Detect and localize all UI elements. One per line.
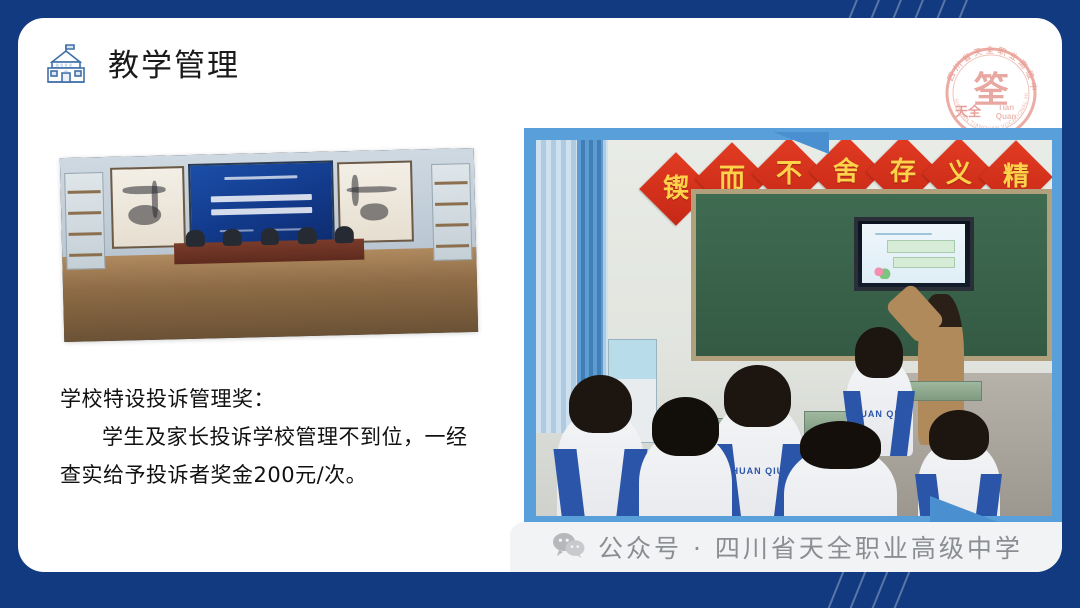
conference-hall-photo: [60, 148, 478, 342]
slide-header: 教学管理: [40, 36, 240, 88]
classroom-photo: 锲 而 不 舍 存 义 精: [524, 128, 1062, 528]
bottom-credit-text: 公众号 · 四川省天全职业高级中学: [598, 529, 1023, 565]
wechat-icon: [552, 532, 586, 563]
svg-text:Tian: Tian: [998, 103, 1014, 112]
body-line-1: 学校特设投诉管理奖：: [60, 380, 480, 418]
page-title: 教学管理: [108, 40, 240, 85]
slide-card: 教学管理 四川省天全职业高级中学 SICHUAN TIANQUAN VOCATI…: [18, 18, 1062, 572]
slide-root: 教学管理 四川省天全职业高级中学 SICHUAN TIANQUAN VOCATI…: [0, 0, 1080, 608]
school-building-icon: [40, 36, 92, 88]
body-line-2: 学生及家长投诉学校管理不到位，一经查实给予投诉者奖金200元/次。: [60, 418, 480, 494]
bottom-credit-bar: 公众号 · 四川省天全职业高级中学: [510, 522, 1062, 572]
svg-text:天全: 天全: [955, 104, 982, 120]
svg-text:Quan: Quan: [996, 112, 1017, 121]
uniform-text: HUAN QIU: [846, 409, 913, 419]
body-text-block: 学校特设投诉管理奖： 学生及家长投诉学校管理不到位，一经查实给予投诉者奖金200…: [60, 380, 480, 494]
